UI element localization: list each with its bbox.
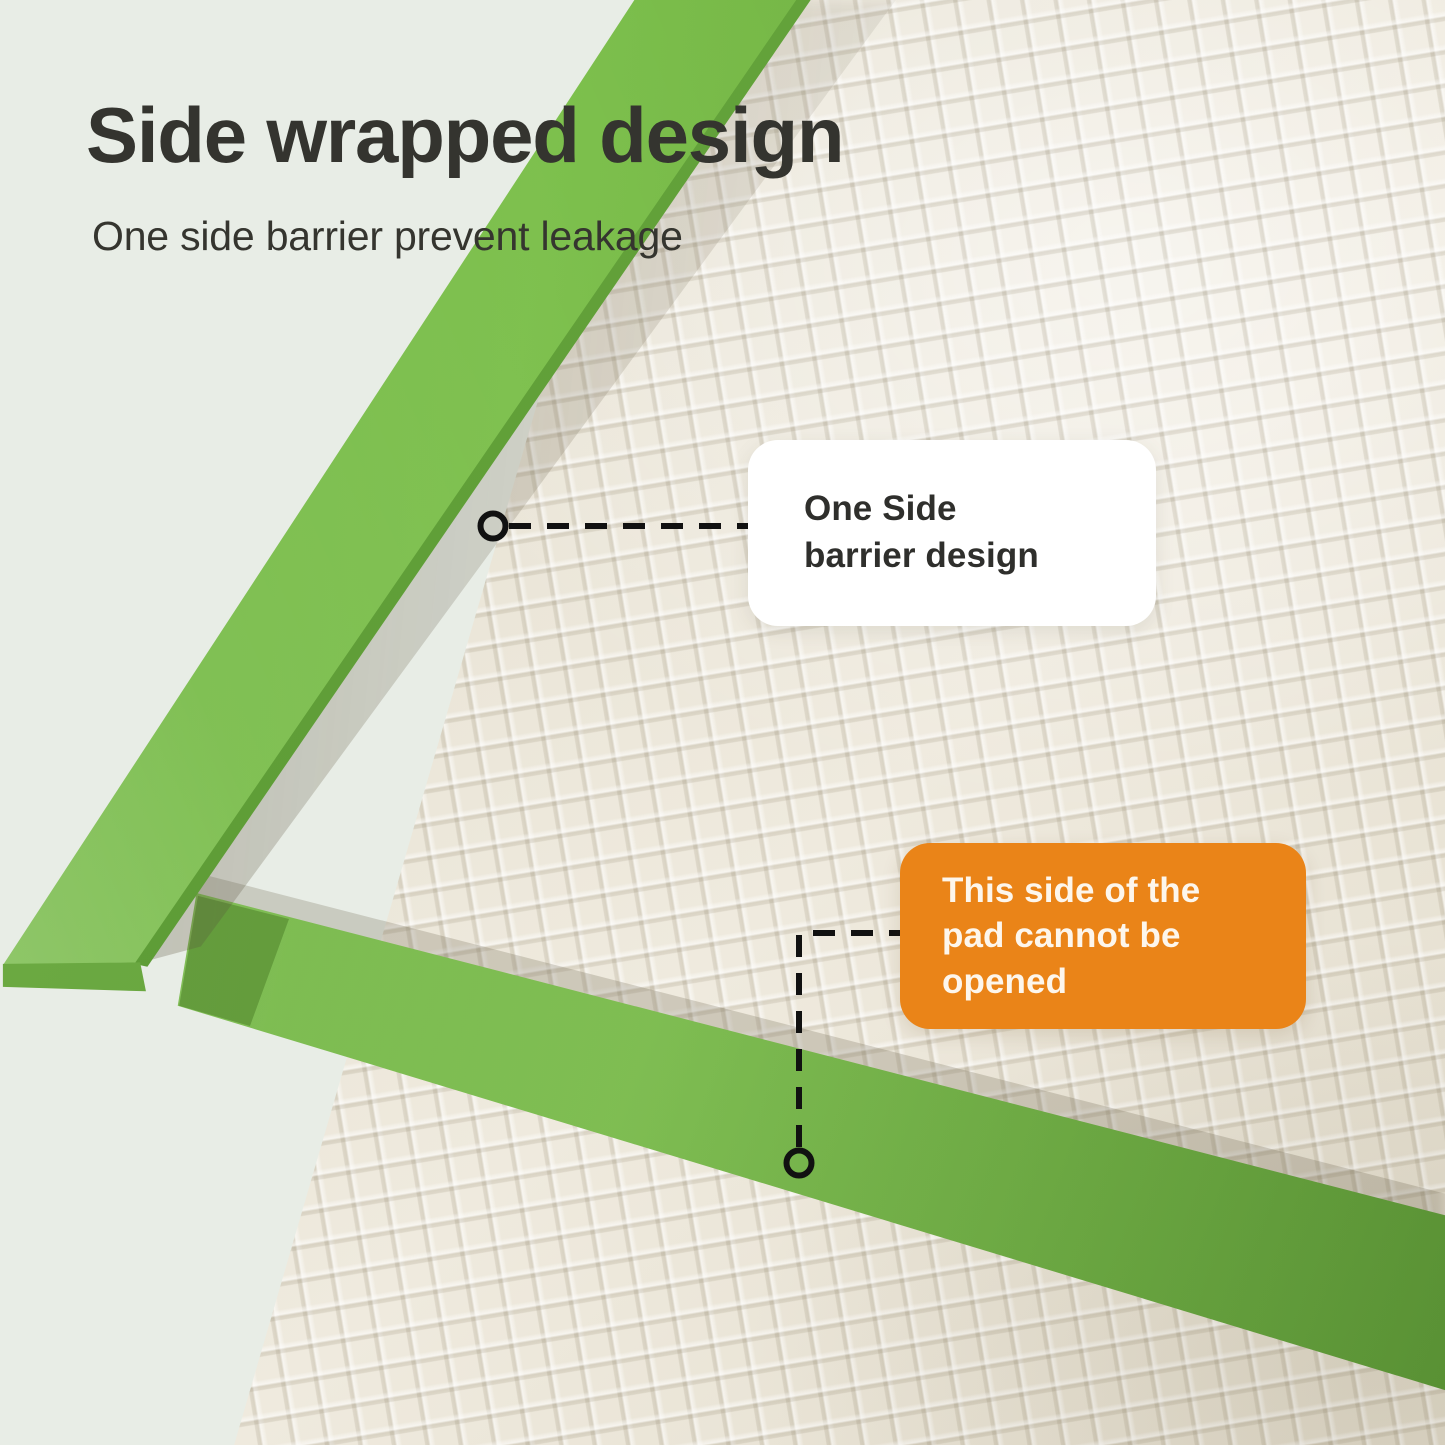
heading-block: Side wrapped design One side barrier pre…	[86, 96, 843, 257]
page-subtitle: One side barrier prevent leakage	[92, 216, 843, 257]
callout-cannot-be-opened[interactable]: This side of the pad cannot be opened	[900, 843, 1306, 1029]
infographic-canvas: One Side barrier design This side of the…	[0, 0, 1445, 1445]
page-title: Side wrapped design	[86, 96, 843, 174]
callout-cannot-be-opened-label: This side of the pad cannot be opened	[942, 868, 1200, 1005]
callout-one-side-barrier-label: One Side barrier design	[804, 486, 1039, 579]
callout-one-side-barrier[interactable]: One Side barrier design	[748, 440, 1156, 626]
